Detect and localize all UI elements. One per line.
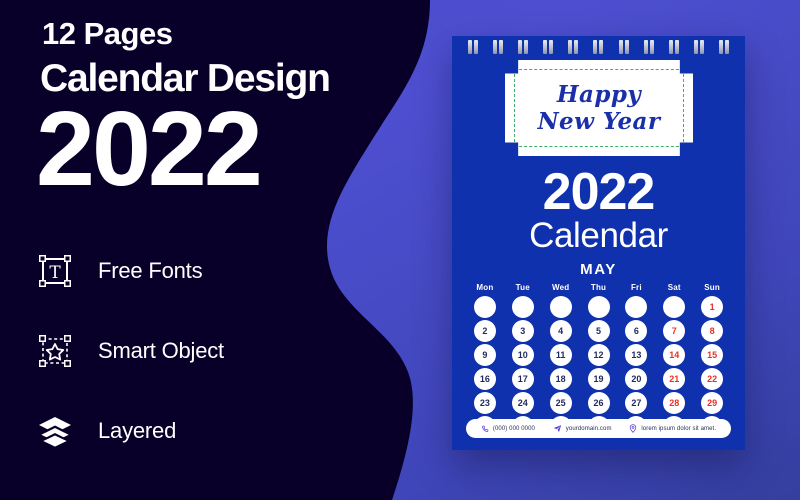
calendar-cell-slot: 22: [693, 368, 731, 390]
date-rows: 1234567891011121314151617181920212223242…: [466, 296, 731, 438]
promo-column: 12 Pages Calendar Design 2022 T: [0, 0, 420, 500]
calendar-day-blank: [512, 296, 534, 318]
footer-address-text: lorem ipsum dolor sit amet.: [641, 426, 716, 432]
text-frame-icon: T: [34, 250, 76, 292]
calendar-day-blank: [625, 296, 647, 318]
spiral-ring: [694, 40, 704, 54]
feature-item-free-fonts: T Free Fonts: [34, 245, 364, 297]
calendar-day[interactable]: 17: [512, 368, 534, 390]
weekday-header: Sun: [693, 283, 731, 292]
calendar-day[interactable]: 29: [701, 392, 723, 414]
weekday-header: Thu: [580, 283, 618, 292]
calendar-cell-slot: 3: [504, 320, 542, 342]
calendar-cell-slot: 12: [580, 344, 618, 366]
weekday-header: Mon: [466, 283, 504, 292]
calendar-cell-slot: [504, 296, 542, 318]
calendar-day[interactable]: 9: [474, 344, 496, 366]
calendar-day[interactable]: 20: [625, 368, 647, 390]
feature-item-layered: Layered: [34, 405, 364, 457]
calendar-cell-slot: 1: [693, 296, 731, 318]
calendar-day[interactable]: 3: [512, 320, 534, 342]
calendar-day-blank: [588, 296, 610, 318]
promo-year: 2022: [36, 96, 260, 202]
weekday-header-row: MonTueWedThuFriSatSun: [466, 283, 731, 292]
calendar-cell-slot: [655, 296, 693, 318]
calendar-cell-slot: 27: [617, 392, 655, 414]
calendar-day[interactable]: 27: [625, 392, 647, 414]
calendar-day[interactable]: 6: [625, 320, 647, 342]
calendar-cell-slot: 2: [466, 320, 504, 342]
calendar-day[interactable]: 5: [588, 320, 610, 342]
calendar-cell-slot: 4: [542, 320, 580, 342]
calendar-day[interactable]: 23: [474, 392, 496, 414]
calendar-week-row: 16171819202122: [466, 368, 731, 390]
spiral-binding: [452, 40, 745, 56]
calendar-cell-slot: 21: [655, 368, 693, 390]
footer-website-text: yourdomain.com: [566, 426, 612, 432]
calendar-cell-slot: 24: [504, 392, 542, 414]
spiral-ring: [468, 40, 478, 54]
footer-website[interactable]: yourdomain.com: [553, 424, 612, 433]
calendar-day[interactable]: 16: [474, 368, 496, 390]
calendar-cell-slot: 19: [580, 368, 618, 390]
calendar-day[interactable]: 13: [625, 344, 647, 366]
feature-label: Layered: [98, 418, 176, 444]
spiral-ring: [543, 40, 553, 54]
calendar-day[interactable]: 19: [588, 368, 610, 390]
calendar-day[interactable]: 14: [663, 344, 685, 366]
spiral-ring: [644, 40, 654, 54]
calendar-day[interactable]: 1: [701, 296, 723, 318]
calendar-week-row: 23242526272829: [466, 392, 731, 414]
feature-label: Free Fonts: [98, 258, 202, 284]
spiral-ring: [493, 40, 503, 54]
calendar-day[interactable]: 12: [588, 344, 610, 366]
calendar-cell-slot: 14: [655, 344, 693, 366]
calendar-cell-slot: 18: [542, 368, 580, 390]
calendar-cell-slot: 26: [580, 392, 618, 414]
calendar-cell-slot: 17: [504, 368, 542, 390]
weekday-header: Sat: [655, 283, 693, 292]
location-pin-icon: [629, 424, 637, 433]
spiral-ring: [669, 40, 679, 54]
calendar-week-row: 9101112131415: [466, 344, 731, 366]
phone-icon: [481, 425, 489, 433]
calendar-cell-slot: 23: [466, 392, 504, 414]
calendar-day[interactable]: 18: [550, 368, 572, 390]
feature-label: Smart Object: [98, 338, 224, 364]
calendar-cell-slot: 15: [693, 344, 731, 366]
calendar-cell-slot: 8: [693, 320, 731, 342]
calendar-day-blank: [550, 296, 572, 318]
calendar-day[interactable]: 4: [550, 320, 572, 342]
calendar-day[interactable]: 10: [512, 344, 534, 366]
calendar-cell-slot: 16: [466, 368, 504, 390]
calendar-cell-slot: 13: [617, 344, 655, 366]
calendar-cell-slot: 25: [542, 392, 580, 414]
spiral-ring: [593, 40, 603, 54]
calendar-cell-slot: [617, 296, 655, 318]
contact-footer: (000) 000 0000 yourdomain.com lorem ipsu…: [466, 419, 731, 438]
weekday-header: Wed: [542, 283, 580, 292]
spiral-ring: [568, 40, 578, 54]
calendar-cell-slot: [466, 296, 504, 318]
calendar-cell-slot: 9: [466, 344, 504, 366]
calendar-day-blank: [663, 296, 685, 318]
footer-phone-text: (000) 000 0000: [493, 426, 535, 432]
feature-list: T Free Fonts: [34, 245, 364, 485]
calendar-cell-slot: 28: [655, 392, 693, 414]
greeting-badge: Happy New Year: [505, 60, 693, 156]
calendar-cell-slot: 6: [617, 320, 655, 342]
smart-object-star-icon: [34, 330, 76, 372]
footer-address[interactable]: lorem ipsum dolor sit amet.: [629, 424, 716, 433]
send-icon: [553, 424, 562, 433]
feature-item-smart-object: Smart Object: [34, 325, 364, 377]
weekday-header: Fri: [617, 283, 655, 292]
calendar-grid: MonTueWedThuFriSatSun 123456789101112131…: [466, 283, 731, 440]
spiral-ring: [619, 40, 629, 54]
greeting-badge-inner-border: Happy New Year: [514, 69, 684, 147]
svg-text:T: T: [49, 263, 61, 283]
calendar-day[interactable]: 26: [588, 392, 610, 414]
footer-phone[interactable]: (000) 000 0000: [481, 425, 535, 433]
calendar-year: 2022: [452, 166, 745, 218]
calendar-day[interactable]: 8: [701, 320, 723, 342]
greeting-line-1: Happy: [557, 81, 641, 108]
calendar-cell-slot: 20: [617, 368, 655, 390]
calendar-cell-slot: 11: [542, 344, 580, 366]
calendar-cell-slot: 7: [655, 320, 693, 342]
calendar-day[interactable]: 11: [550, 344, 572, 366]
calendar-week-row: 2345678: [466, 320, 731, 342]
calendar-cell-slot: [580, 296, 618, 318]
calendar-cell-slot: [542, 296, 580, 318]
calendar-word: Calendar: [452, 218, 745, 253]
layers-icon: [34, 410, 76, 452]
greeting-line-2: New Year: [538, 108, 661, 135]
calendar-month-name: MAY: [452, 261, 745, 278]
calendar-cell-slot: 10: [504, 344, 542, 366]
calendar-day[interactable]: 7: [663, 320, 685, 342]
calendar-cell-slot: 5: [580, 320, 618, 342]
calendar-day[interactable]: 25: [550, 392, 572, 414]
spiral-ring: [518, 40, 528, 54]
calendar-day-blank: [474, 296, 496, 318]
weekday-header: Tue: [504, 283, 542, 292]
pages-count-label: 12 Pages: [42, 16, 172, 52]
calendar-day[interactable]: 28: [663, 392, 685, 414]
calendar-day[interactable]: 24: [512, 392, 534, 414]
calendar-card: Happy New Year 2022 Calendar MAY MonTueW…: [452, 36, 745, 450]
calendar-day[interactable]: 15: [701, 344, 723, 366]
calendar-week-row: 1: [466, 296, 731, 318]
calendar-day[interactable]: 22: [701, 368, 723, 390]
spiral-ring: [719, 40, 729, 54]
calendar-day[interactable]: 21: [663, 368, 685, 390]
poster-canvas: 12 Pages Calendar Design 2022 T: [0, 0, 800, 500]
calendar-cell-slot: 29: [693, 392, 731, 414]
calendar-day[interactable]: 2: [474, 320, 496, 342]
